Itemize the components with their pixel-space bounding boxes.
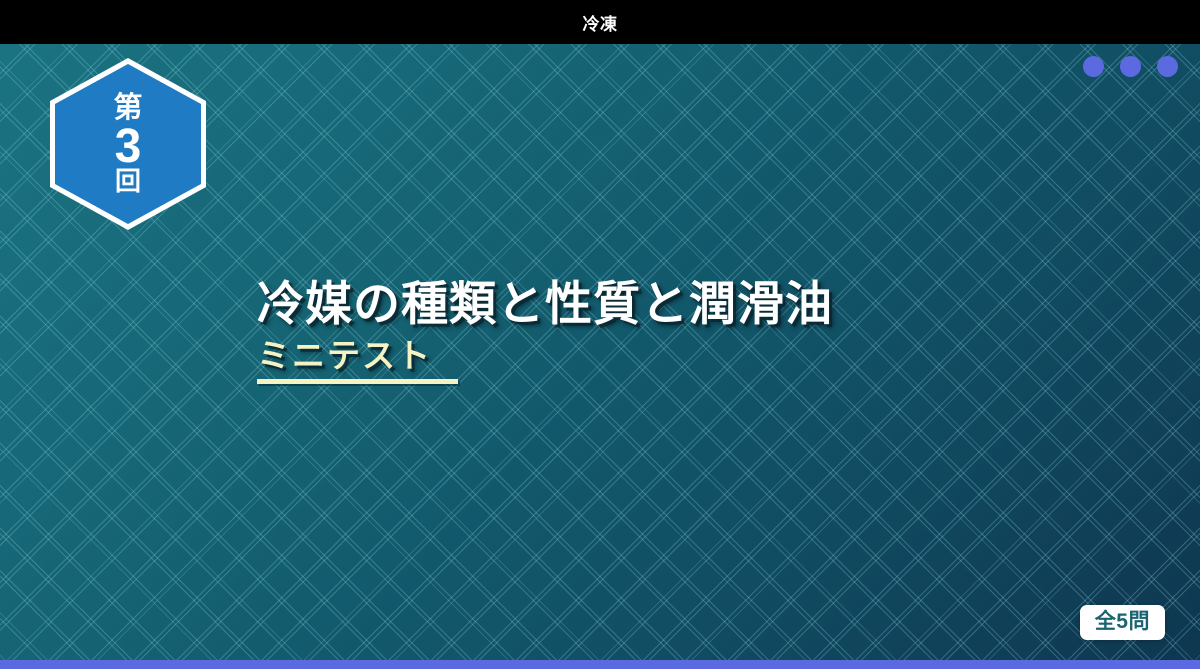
bottom-progress-bar[interactable] <box>0 660 1200 669</box>
dot-2-icon <box>1120 56 1141 77</box>
top-bar: 冷凍 <box>0 0 1200 44</box>
dot-1-icon <box>1083 56 1104 77</box>
decorative-dots-group <box>1083 56 1178 77</box>
badge-prefix-label: 第 <box>113 94 142 123</box>
question-count-label: 全5問 <box>1095 610 1150 633</box>
title-block: 冷媒の種類と性質と潤滑油 ミニテスト <box>257 276 833 384</box>
top-bar-title: 冷凍 <box>583 10 618 35</box>
main-title: 冷媒の種類と性質と潤滑油 <box>257 276 833 331</box>
question-count-badge: 全5問 <box>1080 605 1165 640</box>
subtitle: ミニテスト <box>257 337 458 375</box>
dot-3-icon <box>1157 56 1178 77</box>
slide-stage: 第 3 回 冷媒の種類と性質と潤滑油 ミニテスト 全5問 <box>0 44 1200 660</box>
subtitle-underline <box>257 379 458 384</box>
slide-root: 冷凍 第 3 回 冷媒の種類と性質と潤滑油 ミニテスト <box>0 0 1200 669</box>
subtitle-group: ミニテスト <box>257 337 458 384</box>
badge-suffix-label: 回 <box>115 168 141 194</box>
session-hexagon-badge: 第 3 回 <box>50 58 206 230</box>
badge-number: 3 <box>115 124 142 170</box>
